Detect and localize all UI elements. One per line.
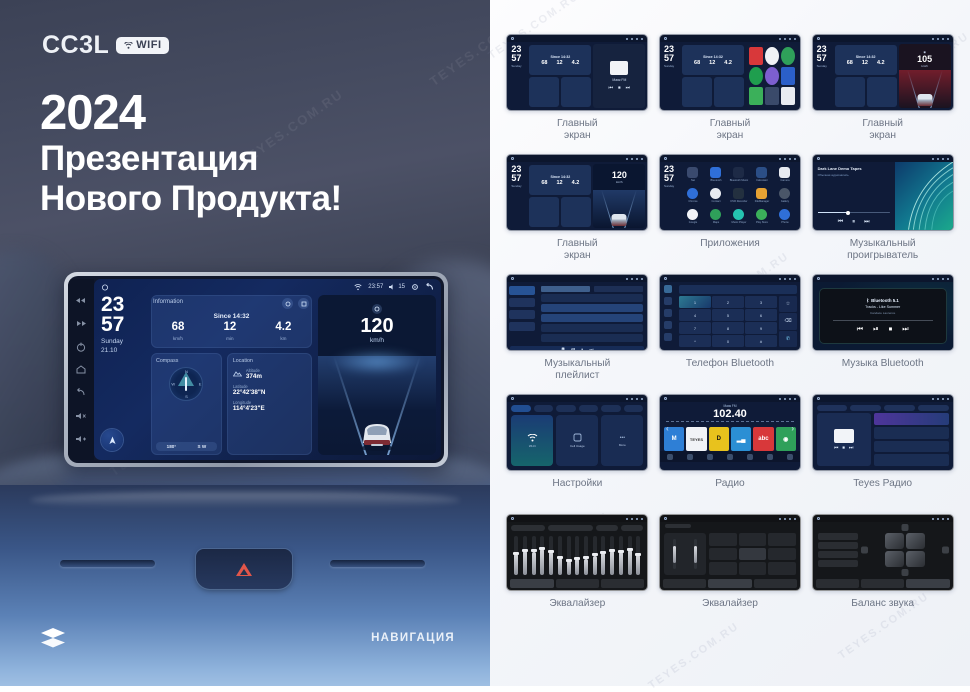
next-icon: ⏭ [589,347,593,352]
clock-hours: 23 [101,295,145,315]
screenshot-teyes-radio[interactable]: ⏮⏹⏭ [812,394,954,471]
playlist-sidebar[interactable] [507,282,537,346]
grid-cell[interactable]: Баланс звука [809,514,956,634]
trip-stat: 4.2 km [275,322,291,341]
radio-station-name: Маяк FM [612,78,626,82]
app-item: Bluetooth Music [728,165,750,185]
information-card[interactable]: Information Since 14:32 [151,295,312,348]
volume-down-button[interactable] [76,410,87,421]
app-item: Contact [705,186,727,206]
car-3d-model [917,94,932,106]
sim-icon [573,433,582,442]
volume-up-button[interactable] [76,433,87,444]
cell-label: Эквалайзер [702,598,758,610]
progress-slider[interactable] [833,320,933,321]
compass-card[interactable]: Compass N S W E [151,353,222,456]
track-artist: Обычная аудиозапись [818,173,890,177]
nav-label: НАВИГАЦИЯ [371,632,455,644]
radio-toolbar[interactable] [660,451,800,462]
head-unit-screen[interactable]: 23:57 15 23 57 Sunday [94,279,441,460]
equalizer-sliders[interactable] [507,533,647,579]
layers-icon[interactable] [40,627,66,649]
speed-unit: km/h [318,337,436,344]
favorite-icon[interactable]: ☆ [779,296,797,312]
track-artist: Candace Laurence [870,311,895,315]
location-row: Altitude 374m [233,368,306,380]
cell-label: Главный экран [557,118,598,142]
phone-sidebar[interactable] [660,282,676,350]
screenshot-home-road-red[interactable]: 2357Sunday Since 14:32 68124.2 ◉105km/h [812,34,954,111]
equalizer-tabs[interactable] [813,579,953,590]
expand-icon[interactable] [298,298,309,309]
screenshot-sound-balance[interactable] [812,514,954,591]
phone-number-input[interactable] [679,285,797,294]
pause-icon: ⏸ [581,347,583,352]
station-list[interactable] [874,413,949,466]
equalizer-tabs[interactable] [660,579,800,590]
trip-stat: 68 km/h [172,322,185,341]
app-launcher-grid[interactable]: Net Bluetooth Bluetooth Music Calculator… [680,162,800,230]
app-item: Google [682,206,704,226]
app-item: Calculator [751,165,773,185]
prev-icon: ⏮ [857,326,863,334]
grid-cell[interactable]: ◉⏮⏸⏭ Музыкальный плейлист [504,274,651,394]
bluetooth-version: Bluetooth 5.1 [871,298,899,303]
hazard-triangle-icon [236,563,252,576]
balance-down-button[interactable] [901,569,908,576]
app-item: Chrome [682,186,704,206]
track-title: Tracks - Like Summer [865,305,900,309]
back-arrow-icon[interactable] [425,283,434,291]
cell-label: Teyes Радио [853,478,912,490]
backspace-icon[interactable]: ⌫ [779,313,797,329]
preset-stations[interactable]: М TEYES D ▂▄ abc ◉ [660,427,800,451]
cell-label: Приложения [700,238,760,250]
grid-cell[interactable]: 2357Sunday Net Bluetooth Bluetooth Music… [657,154,804,274]
grid-cell[interactable]: 2357Sunday Since 14:32 68124.2 ◉105km/h [809,34,956,154]
speed-value: 120 [318,316,436,336]
car-3d-model [355,413,399,451]
settings-wifi-card[interactable]: Wi-Fi [511,415,553,466]
car-3d-model [612,214,627,226]
app-item: Play Store [751,206,773,226]
driving-view-card[interactable]: 120 km/h [318,295,436,455]
location-card[interactable]: Location Altitude 374m [227,353,312,456]
balance-up-button[interactable] [901,524,908,531]
grid-cell[interactable]: ⏮⏹⏭ Teyes Радио [809,394,956,514]
navigation-arrow-icon [107,435,118,446]
clock-date: 21.10 [101,347,117,354]
wifi-icon [527,434,538,442]
mountain-icon [233,370,242,377]
speaker-icon [389,284,396,290]
screenshot-music-player[interactable]: Dark Lane Demo Tapes Обычная аудиозапись… [812,154,954,231]
back-button[interactable] [76,387,87,398]
cell-label: Главный экран [862,118,903,142]
play-icon: ⏯ [873,326,879,334]
app-shortcut-grid[interactable] [749,47,795,105]
location-title: Location [233,358,306,364]
more-icon: ••• [620,435,625,441]
balance-right-button[interactable] [942,547,949,554]
now-playing-card: ⏮⏹⏭ [817,413,871,466]
screenshot-grid-panel: TEYES.COM.RU TEYES.COM.RU TEYES.COM.RU T… [490,0,970,686]
screenshot-playlist[interactable]: ◉⏮⏸⏭ [506,274,648,351]
stop-icon: ⏹ [889,326,893,334]
head-unit-side-buttons[interactable] [68,279,94,460]
next-icon: ⏭ [902,326,908,334]
gear-icon[interactable] [411,283,419,291]
album-art [834,429,854,443]
prev-station-button[interactable]: ‹ [666,424,669,433]
compass-title: Compass [156,358,217,364]
compass-dial: N S W E [169,367,203,401]
clock-widget: 23 57 Sunday 21.10 [101,295,145,455]
media-controls[interactable]: ⏮⏸⏭ [818,219,890,226]
trip-stats: 68 km/h 12 min 4.2 km [152,322,311,347]
cell-label: Телефон Bluetooth [686,358,774,370]
trip-stat: 12 min [223,322,236,341]
balance-presets[interactable] [818,533,858,567]
balance-left-button[interactable] [861,547,868,554]
bluetooth-icon: ᛒ [866,298,869,303]
app-item: Camera [774,165,796,185]
settings-more-card[interactable]: ••• More [601,415,643,466]
grid-cell[interactable]: ‹ › Маяк FM 102.40 М TEYES D ▂▄ abc [657,394,804,514]
speed-value: ◉105km/h [899,50,951,68]
location-row: Longitude 114°4'23"E [233,400,306,412]
power-button[interactable] [76,341,87,352]
prev-track-button[interactable] [76,295,87,306]
grid-cell[interactable]: Эквалайзер [504,514,651,634]
cell-label: Баланс звука [851,598,914,610]
status-volume[interactable]: 15 [389,284,405,290]
home-circle-icon[interactable] [101,284,109,291]
now-playing-bar[interactable]: ◉⏮⏸⏭ [510,346,644,351]
app-item: Bluetooth [705,165,727,185]
home-button[interactable] [76,364,87,375]
clock-minutes: 57 [101,315,145,335]
app-item: Net [682,165,704,185]
cell-label: Музыкальный проигрыватель [847,238,918,262]
playlist-tracks[interactable] [537,282,647,346]
grid-cell[interactable]: 2357Sunday Since 14:32 68124.2 [657,34,804,154]
track-title: Dark Lane Demo Tapes [818,166,890,171]
cell-label: Настройки [552,478,602,490]
screenshot-apps[interactable]: 2357Sunday Net Bluetooth Bluetooth Music… [659,154,801,231]
screenshot-equalizer-presets[interactable] [659,514,801,591]
location-row: Latitude 22°42'38"N [233,384,306,396]
wifi-icon [354,284,362,291]
grid-cell[interactable]: ᛒBluetooth 5.1 Tracks - Like Summer Cand… [809,274,956,394]
preset-buttons[interactable] [709,533,796,575]
next-track-button[interactable] [76,318,87,329]
radio-frequency: 102.40 [660,408,800,420]
navigation-launch-button[interactable] [101,429,123,451]
next-icon: ⏭ [864,219,869,226]
app-item: DVR Recorder [728,186,750,206]
hazard-light-button[interactable] [196,549,292,589]
compass-readout: 180° S W [156,442,217,451]
screenshot-home-media[interactable]: 2357Sunday Since 14:32 68124.2 Маяк FM ⏮… [506,34,648,111]
media-controls[interactable]: ⏮⏯⏹⏭ [857,326,909,334]
screenshot-bluetooth-phone[interactable]: 123 456 789 *0# ☆ ⌫ ✆ [659,274,801,351]
cell-label: Эквалайзер [549,598,605,610]
cell-label: Главный экран [557,238,598,262]
prev-icon: ⏮ [571,347,575,352]
fader-sliders[interactable] [664,533,706,575]
settings-tabs[interactable] [507,402,647,415]
presentation-slide: TEYES.COM.RU TEYES.COM.RU TEYES.COM.RU T… [0,0,970,686]
screenshot-radio[interactable]: ‹ › Маяк FM 102.40 М TEYES D ▂▄ abc [659,394,801,471]
status-time: 23:57 [368,284,383,290]
information-title: Information [153,299,183,305]
app-item: Gallery [774,186,796,206]
frequency-dial[interactable] [666,421,794,425]
teyes-radio-tabs[interactable] [813,402,953,413]
screenshot-home-apps[interactable]: 2357Sunday Since 14:32 68124.2 [659,34,801,111]
pause-icon: ⏸ [852,219,855,226]
speed-value: 120km/h [593,170,645,184]
hero-panel: TEYES.COM.RU TEYES.COM.RU TEYES.COM.RU T… [0,0,490,686]
speed-gauge-icon [372,304,382,314]
cell-label: Музыка Bluetooth [842,358,924,370]
media-controls[interactable]: ⏮⏹⏭ [609,85,631,91]
media-controls[interactable]: ⏮⏹⏭ [834,445,854,451]
grid-cell[interactable]: Эквалайзер [657,514,804,634]
visualizer [895,162,953,230]
equalizer-tabs[interactable] [507,579,647,590]
screenshot-home-road[interactable]: 2357Sunday Since 14:32 68124.2 120km/h [506,154,648,231]
refresh-icon[interactable] [282,298,293,309]
status-bar: 23:57 15 [94,279,441,295]
balance-pad[interactable] [862,525,948,575]
screenshot-bluetooth-music[interactable]: ᛒBluetooth 5.1 Tracks - Like Summer Cand… [812,274,954,351]
head-unit-device: 23:57 15 23 57 Sunday [64,272,448,467]
progress-slider[interactable] [818,212,890,213]
screenshot-equalizer[interactable] [506,514,648,591]
screenshot-settings[interactable]: Wi-Fi Cell Usage ••• More [506,394,648,471]
screenshot-grid: 2357Sunday Since 14:32 68124.2 Маяк FM ⏮… [504,34,956,634]
prev-icon: ⏮ [838,219,843,226]
next-station-button[interactable]: › [791,424,794,433]
grid-cell[interactable]: Dark Lane Demo Tapes Обычная аудиозапись… [809,154,956,274]
app-item: Maps [705,206,727,226]
cell-label: Радио [715,478,744,490]
grid-cell[interactable]: 2357Sunday Since 14:32 68124.2 120km/h [504,154,651,274]
cell-label: Музыкальный плейлист [544,358,610,382]
album-art [610,61,628,75]
grid-cell[interactable]: 2357Sunday Since 14:32 68124.2 Маяк FM ⏮… [504,34,651,154]
air-vent [60,560,155,567]
app-item: FileManager [751,186,773,206]
cell-label: Главный экран [710,118,751,142]
album-art: ◉ [561,346,565,351]
air-vent [330,560,425,567]
grid-cell[interactable]: 123 456 789 *0# ☆ ⌫ ✆ [657,274,804,394]
settings-cell-card[interactable]: Cell Usage [556,415,598,466]
app-item: Phone [774,206,796,226]
grid-cell[interactable]: Wi-Fi Cell Usage ••• More [504,394,651,514]
dialpad[interactable]: 123 456 789 *0# [679,296,777,347]
clock-weekday: Sunday [101,338,123,345]
app-item: Music Player [728,206,750,226]
call-icon[interactable]: ✆ [779,331,797,347]
